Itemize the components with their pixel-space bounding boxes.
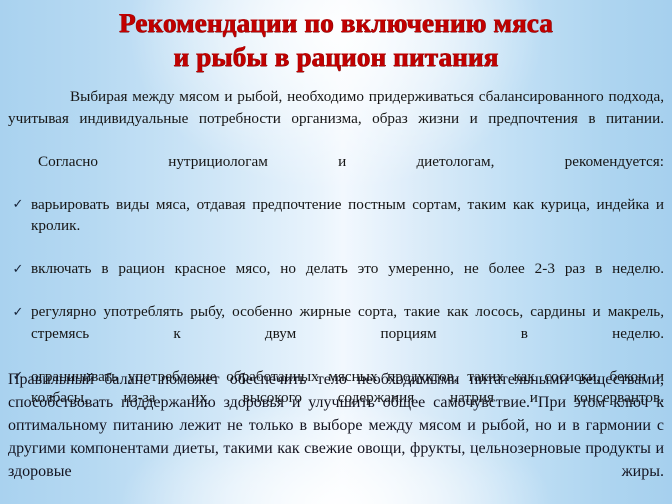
check-mark-icon: ✓: [10, 194, 26, 216]
check-mark-icon: ✓: [10, 259, 26, 281]
check-mark-icon: ✓: [10, 302, 26, 324]
lead-in-text: Согласно нутрициологам и диетологам, рек…: [8, 151, 664, 194]
closing-paragraph: Правильный баланс поможет обеспечить тел…: [8, 368, 664, 504]
slide-canvas: Рекомендации по включению мяса и рыбы в …: [0, 0, 672, 504]
list-item: ✓регулярно употреблять рыбу, особенно жи…: [8, 301, 664, 366]
list-item-text: варьировать виды мяса, отдавая предпочте…: [31, 196, 664, 235]
intro-paragraph: Выбирая между мясом и рыбой, необходимо …: [8, 86, 664, 151]
list-item: ✓включать в рацион красное мясо, но дела…: [8, 258, 664, 301]
title-line-2: и рыбы в рацион питания: [0, 40, 672, 74]
list-item-text: регулярно употреблять рыбу, особенно жир…: [31, 303, 664, 342]
list-item-text: включать в рацион красное мясо, но делат…: [31, 260, 664, 277]
title-line-1: Рекомендации по включению мяса: [0, 6, 672, 40]
list-item: ✓варьировать виды мяса, отдавая предпочт…: [8, 194, 664, 259]
slide-title: Рекомендации по включению мяса и рыбы в …: [0, 6, 672, 74]
